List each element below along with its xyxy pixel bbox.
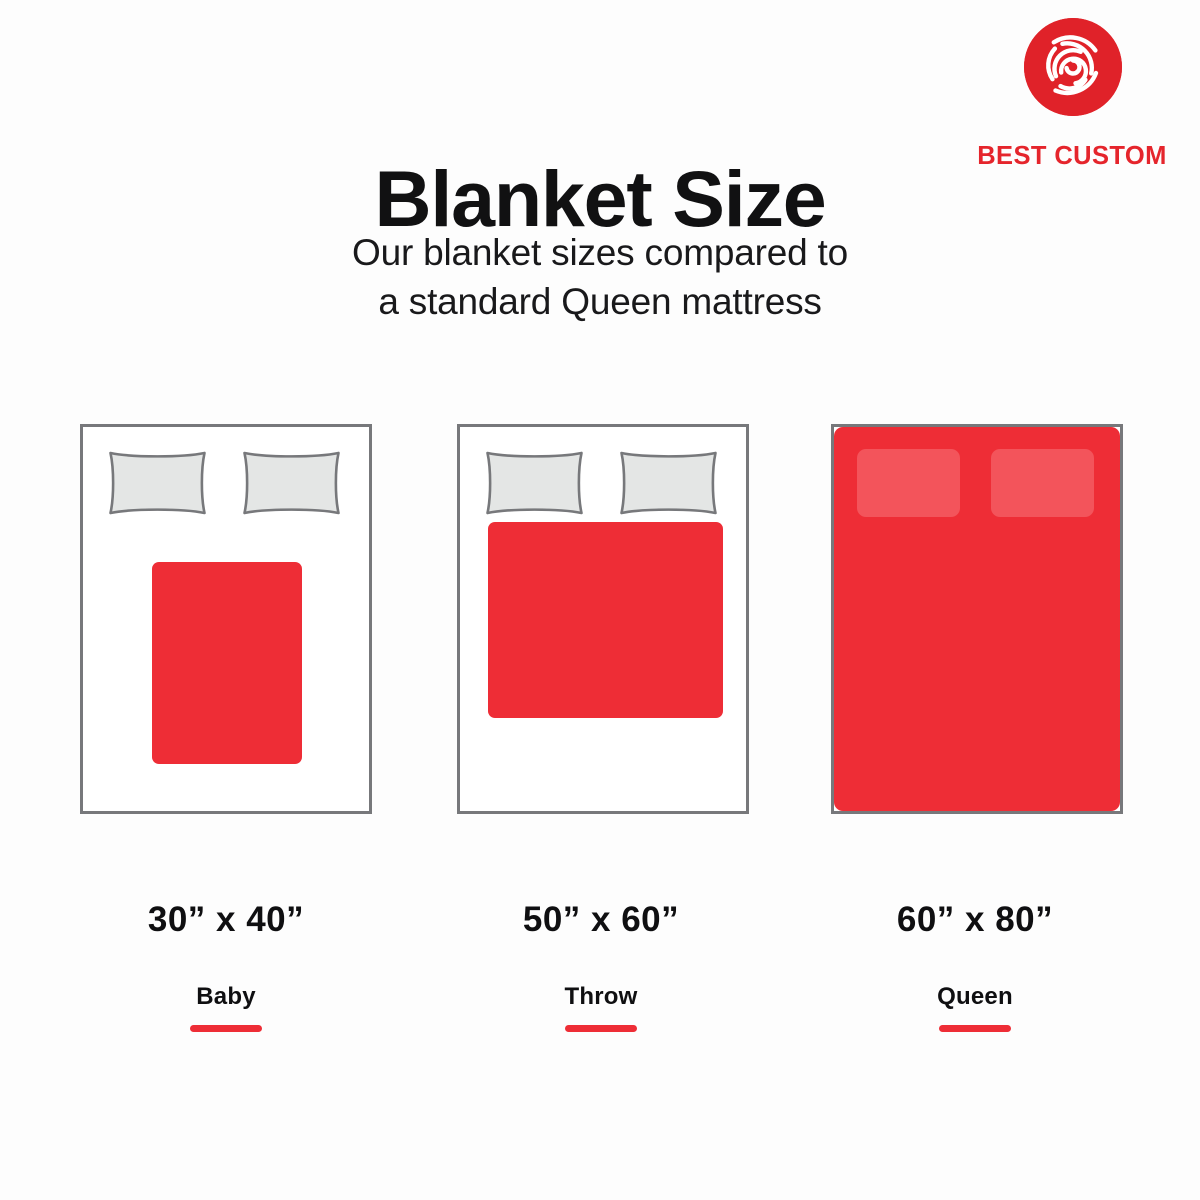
size-name-queen: Queen bbox=[825, 983, 1125, 1011]
bed-diagram-queen bbox=[831, 424, 1123, 814]
pillow-icon-left-baby bbox=[106, 449, 209, 517]
brand-logo: BEST CUSTOM bbox=[972, 18, 1172, 180]
dimensions-text-queen: 60” x 80” bbox=[825, 900, 1125, 940]
pillow-icon-left-throw bbox=[483, 449, 586, 517]
bed-diagram-baby bbox=[80, 424, 372, 814]
underline-bar-queen bbox=[939, 1025, 1011, 1032]
page-subtitle: Our blanket sizes compared to a standard… bbox=[0, 228, 1200, 326]
size-label-baby: 30” x 40” Baby bbox=[76, 900, 376, 1032]
pillow-icon-right-queen bbox=[991, 449, 1094, 517]
fingerprint-icon bbox=[1024, 18, 1122, 116]
page-subtitle-line-2: a standard Queen mattress bbox=[0, 277, 1200, 326]
blanket-shape-throw bbox=[488, 522, 723, 718]
blanket-shape-queen bbox=[834, 427, 1120, 811]
underline-bar-baby bbox=[190, 1025, 262, 1032]
dimensions-text-throw: 50” x 60” bbox=[451, 900, 751, 940]
size-name-baby: Baby bbox=[76, 983, 376, 1011]
bed-diagrams-row bbox=[0, 424, 1200, 818]
pillow-icon-right-baby bbox=[240, 449, 343, 517]
size-name-throw: Throw bbox=[451, 983, 751, 1011]
pillow-icon-left-queen bbox=[857, 449, 960, 517]
bed-diagram-throw bbox=[457, 424, 749, 814]
pillow-icon-right-throw bbox=[617, 449, 720, 517]
dimensions-text-baby: 30” x 40” bbox=[76, 900, 376, 940]
size-label-queen: 60” x 80” Queen bbox=[825, 900, 1125, 1032]
size-labels-row: 30” x 40” Baby 50” x 60” Throw 60” x 80”… bbox=[0, 900, 1200, 1040]
underline-bar-throw bbox=[565, 1025, 637, 1032]
size-label-throw: 50” x 60” Throw bbox=[451, 900, 751, 1032]
blanket-shape-baby bbox=[152, 562, 302, 764]
page-subtitle-line-1: Our blanket sizes compared to bbox=[0, 228, 1200, 277]
